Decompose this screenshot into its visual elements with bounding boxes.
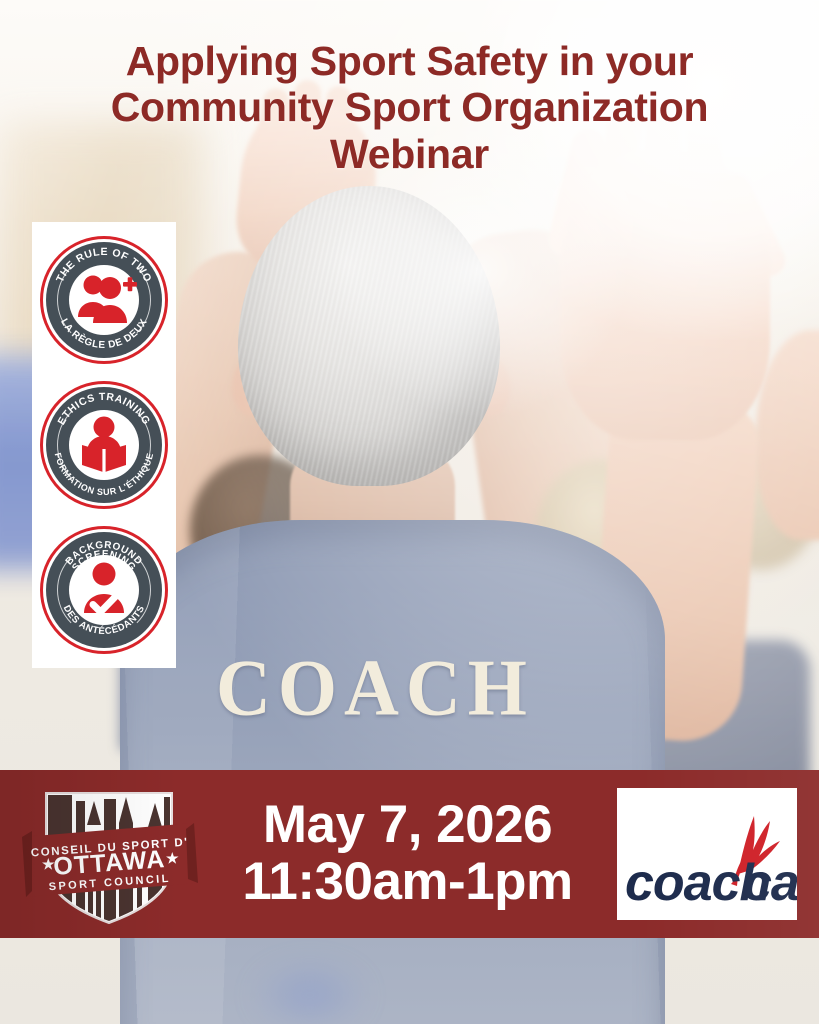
person-checkmark-icon (69, 555, 139, 625)
badge-ethics-training: ETHICS TRAINING FORMATION SUR L'ÉTHIQUE (40, 381, 168, 509)
event-datetime: May 7, 2026 11:30am-1pm (202, 797, 617, 910)
title-line-3: Webinar (34, 131, 785, 177)
osc-star-left: ★ (42, 856, 55, 872)
event-date: May 7, 2026 (208, 797, 607, 854)
badge-background-screening: BACKGROUND SCREENING VÉRIFICATION DES AN… (40, 526, 168, 654)
coach-shirt-text: COACH (216, 642, 516, 734)
title-line-2: Community Sport Organization (34, 84, 785, 130)
two-people-plus-icon (69, 265, 139, 335)
coach-ca-logo: coach ca (617, 788, 797, 920)
photo-blue-accent-bottom (250, 960, 370, 1024)
person-reading-book-icon (69, 410, 139, 480)
event-time: 11:30am-1pm (208, 854, 607, 911)
osc-star-right: ★ (166, 850, 179, 866)
poster: COACH Applying Sport Safety in your Comm… (0, 0, 819, 1024)
coach-ca-word-right: ca (743, 854, 797, 912)
page-title: Applying Sport Safety in your Community … (0, 38, 819, 177)
badge-rule-of-two: THE RULE OF TWO LA RÈGLE DE DEUX (40, 236, 168, 364)
footer-bar: CONSEIL DU SPORT D' OTTAWA SPORT COUNCIL… (0, 770, 819, 938)
title-line-1: Applying Sport Safety in your (34, 38, 785, 84)
safe-sport-badge-panel: THE RULE OF TWO LA RÈGLE DE DEUX (32, 222, 176, 668)
ottawa-sport-council-logo: CONSEIL DU SPORT D' OTTAWA SPORT COUNCIL… (16, 779, 202, 929)
